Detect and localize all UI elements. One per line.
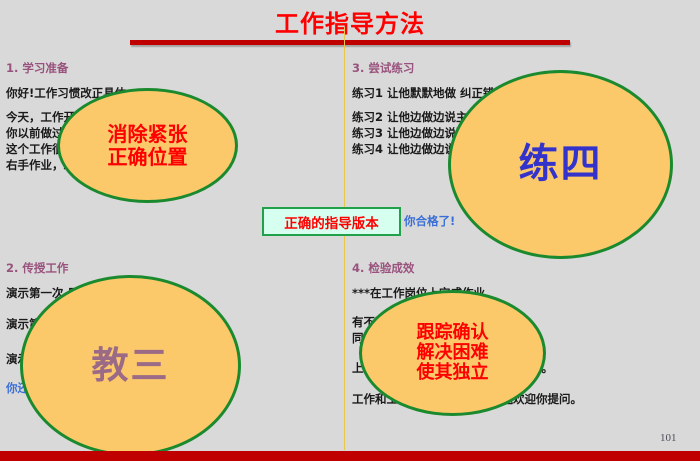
slide-canvas: 工作指导方法 1.学习准备 你好!工作习惯改正具体。 今天，工作开始前说明。 你… — [0, 0, 700, 461]
section-step1-heading: 1.学习准备 — [6, 60, 342, 76]
page-title: 工作指导方法 — [0, 4, 700, 39]
column-divider — [344, 27, 345, 450]
annotation-ellipse-practice: 练四 — [448, 70, 673, 259]
section-step4-heading: 4.检验成效 — [352, 260, 700, 276]
annotation-ellipse-practice-line-1: 练四 — [519, 142, 603, 187]
annotation-ellipse-followup-line-2: 解决困难 — [417, 343, 489, 363]
section-step3-number: 3. — [352, 61, 364, 75]
annotation-ellipse-relax: 消除紧张 正确位置 — [57, 88, 238, 203]
pass-note-label: 你合格了! — [404, 213, 455, 229]
footer-rule — [0, 451, 700, 461]
title-underline-rule — [130, 40, 570, 45]
annotation-ellipse-followup: 跟踪确认 解决困难 使其独立 — [359, 290, 546, 416]
annotation-ellipse-relax-line-2: 正确位置 — [108, 146, 188, 168]
annotation-ellipse-relax-line-1: 消除紧张 — [108, 123, 188, 145]
section-step2-number: 2. — [6, 261, 18, 275]
section-step1-number: 1. — [6, 61, 18, 75]
page-number: 101 — [660, 432, 677, 444]
annotation-ellipse-followup-line-1: 跟踪确认 — [417, 323, 489, 343]
section-step4-number: 4. — [352, 261, 364, 275]
annotation-ellipse-followup-line-3: 使其独立 — [417, 363, 489, 383]
correct-guidance-callout: 正确的指导版本 — [262, 207, 401, 236]
annotation-ellipse-teach-line-1: 教三 — [92, 345, 170, 386]
section-step1-title: 学习准备 — [22, 61, 68, 75]
section-step3-title: 尝试练习 — [368, 61, 414, 75]
section-step4-title: 检验成效 — [368, 261, 414, 275]
section-step2-heading: 2.传授工作 — [6, 260, 342, 276]
section-step2-title: 传授工作 — [22, 261, 68, 275]
annotation-ellipse-teach: 教三 — [20, 275, 241, 456]
correct-guidance-callout-label: 正确的指导版本 — [284, 212, 379, 232]
